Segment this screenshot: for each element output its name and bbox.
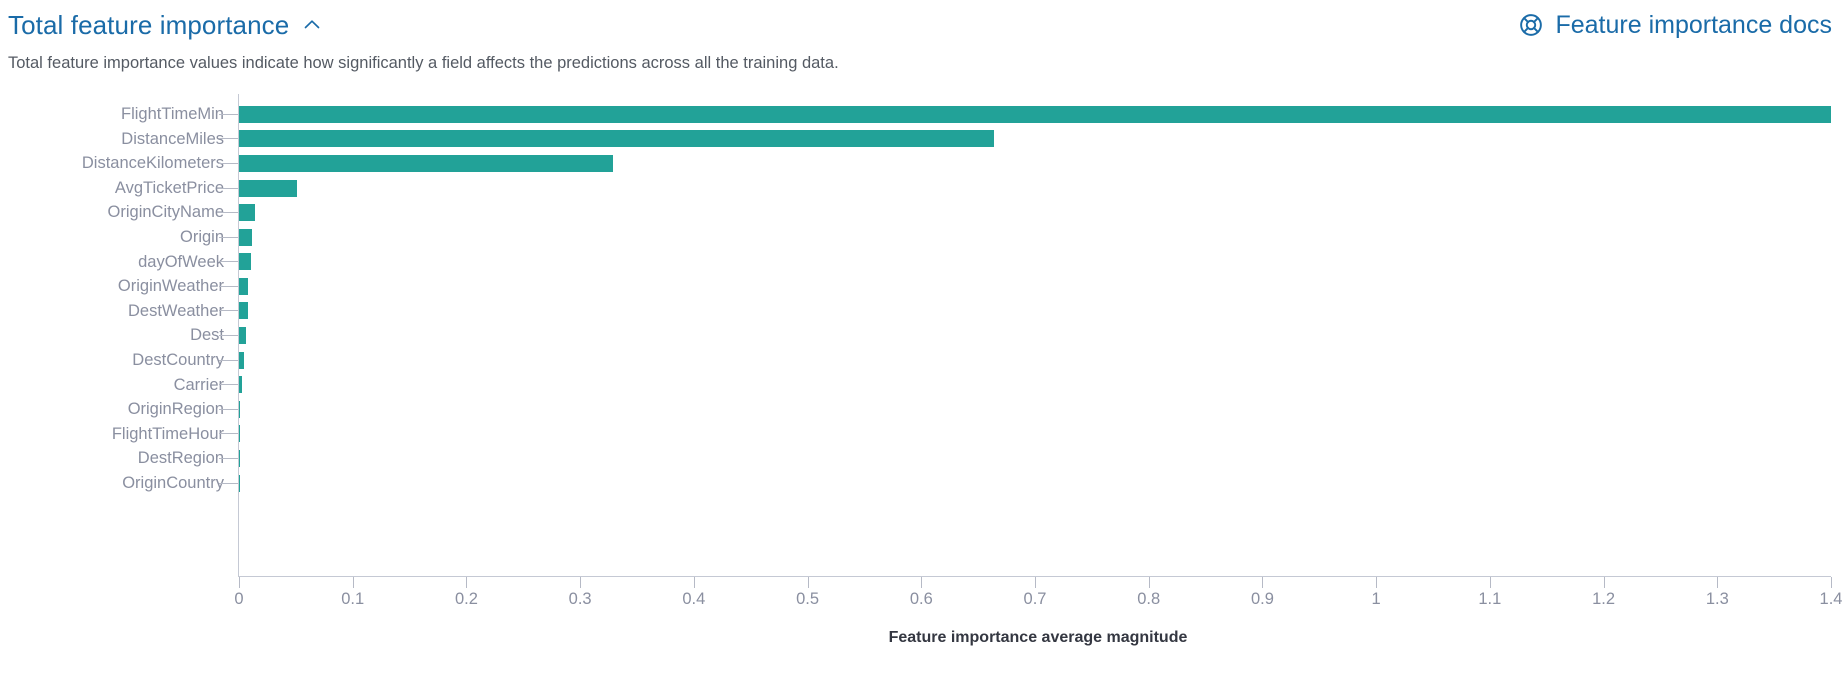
y-axis-tick [219,261,238,262]
bar-row[interactable]: Origin [0,225,1844,250]
bar-row[interactable]: dayOfWeek [0,249,1844,274]
x-axis-tick [1035,577,1036,588]
x-axis-tick-label: 1.3 [1706,590,1729,609]
x-axis-tick [921,577,922,588]
bar[interactable] [239,450,240,467]
y-axis-tick [219,138,238,139]
y-axis-tick [219,188,238,189]
category-label: OriginCityName [0,204,224,221]
y-axis-tick [219,483,238,484]
x-axis-tick [580,577,581,588]
bar[interactable] [239,475,240,492]
category-label: DestRegion [0,450,224,467]
y-axis-line [238,94,239,576]
x-axis-tick-label: 0.1 [341,590,364,609]
category-label: Origin [0,229,224,246]
y-axis-tick [219,384,238,385]
bar[interactable] [239,130,994,147]
x-axis-tick [1831,577,1832,588]
x-axis-tick-label: 0.3 [569,590,592,609]
bar[interactable] [239,376,242,393]
bar[interactable] [239,204,255,221]
x-axis-tick [466,577,467,588]
category-label: dayOfWeek [0,254,224,271]
y-axis-tick [219,335,238,336]
x-axis-tick [239,577,240,588]
bar-row[interactable]: OriginRegion [0,397,1844,422]
category-label: OriginRegion [0,401,224,418]
x-axis-tick-label: 0.6 [910,590,933,609]
y-axis-tick [219,114,238,115]
x-axis-tick [1717,577,1718,588]
y-axis-tick [219,286,238,287]
panel-title-toggle[interactable]: Total feature importance [8,11,323,40]
bar-rows: FlightTimeMinDistanceMilesDistanceKilome… [0,102,1844,496]
x-axis-title-text: Feature importance average magnitude [889,629,1188,646]
category-label: OriginWeather [0,278,224,295]
category-label: Carrier [0,377,224,394]
docs-link-label: Feature importance docs [1555,11,1832,40]
category-label: OriginCountry [0,475,224,492]
category-label: AvgTicketPrice [0,180,224,197]
x-axis-tick-label: 0.2 [455,590,478,609]
category-label: FlightTimeHour [0,426,224,443]
x-axis-tick-label: 1.1 [1478,590,1501,609]
x-axis-tick [353,577,354,588]
x-axis-tick-label: 1.4 [1820,590,1843,609]
category-label: DistanceMiles [0,131,224,148]
y-axis-tick [219,310,238,311]
x-axis-tick-label: 0.4 [682,590,705,609]
x-axis-tick [1149,577,1150,588]
bar-row[interactable]: FlightTimeHour [0,422,1844,447]
x-axis-tick [808,577,809,588]
bar[interactable] [239,253,251,270]
bar[interactable] [239,155,613,172]
bar-row[interactable]: Dest [0,323,1844,348]
y-axis-tick [219,433,238,434]
y-axis-tick [219,237,238,238]
x-axis-title: Feature importance average magnitude [0,629,1844,647]
bar-row[interactable]: OriginCityName [0,200,1844,225]
feature-importance-docs-link[interactable]: Feature importance docs [1518,11,1834,40]
category-label: FlightTimeMin [0,106,224,123]
feature-importance-panel: Total feature importance Feature importa… [0,0,1844,680]
bar[interactable] [239,352,244,369]
x-axis-tick-label: 0.7 [1024,590,1047,609]
x-axis-tick-label: 0.5 [796,590,819,609]
y-axis-tick [219,163,238,164]
bar-row[interactable]: AvgTicketPrice [0,176,1844,201]
x-axis-tick-label: 1.2 [1592,590,1615,609]
x-axis-tick [1262,577,1263,588]
y-axis-tick [219,360,238,361]
feature-importance-chart: FlightTimeMinDistanceMilesDistanceKilome… [0,94,1844,614]
bar-row[interactable]: OriginWeather [0,274,1844,299]
panel-description: Total feature importance values indicate… [0,44,1844,76]
bar-row[interactable]: Carrier [0,372,1844,397]
bar[interactable] [239,327,246,344]
x-axis-tick-label: 1 [1372,590,1381,609]
bar[interactable] [239,425,240,442]
chart-plot-area: FlightTimeMinDistanceMilesDistanceKilome… [0,94,1844,614]
bar-row[interactable]: FlightTimeMin [0,102,1844,127]
x-axis-tick-label: 0 [234,590,243,609]
category-label: Dest [0,327,224,344]
bar-row[interactable]: OriginCountry [0,471,1844,496]
x-axis-tick [1490,577,1491,588]
bar[interactable] [239,278,248,295]
category-label: DistanceKilometers [0,155,224,172]
panel-header: Total feature importance Feature importa… [0,0,1844,44]
y-axis-tick [219,458,238,459]
bar-row[interactable]: DistanceKilometers [0,151,1844,176]
bar[interactable] [239,401,240,418]
bar[interactable] [239,302,248,319]
bar[interactable] [239,229,252,246]
x-axis-tick-label: 0.9 [1251,590,1274,609]
bar-row[interactable]: DistanceMiles [0,127,1844,152]
x-axis-tick [1376,577,1377,588]
bar-row[interactable]: DestWeather [0,299,1844,324]
bar-row[interactable]: DestCountry [0,348,1844,373]
page-title: Total feature importance [8,11,289,40]
y-axis-tick [219,212,238,213]
bar-row[interactable]: DestRegion [0,446,1844,471]
x-axis-tick [694,577,695,588]
category-label: DestWeather [0,303,224,320]
bar[interactable] [239,106,1831,123]
help-life-ring-icon [1518,12,1544,38]
x-axis-tick-label: 0.8 [1137,590,1160,609]
chevron-up-icon[interactable] [301,14,323,36]
y-axis-tick [219,409,238,410]
x-axis-tick [1604,577,1605,588]
bar[interactable] [239,180,297,197]
category-label: DestCountry [0,352,224,369]
